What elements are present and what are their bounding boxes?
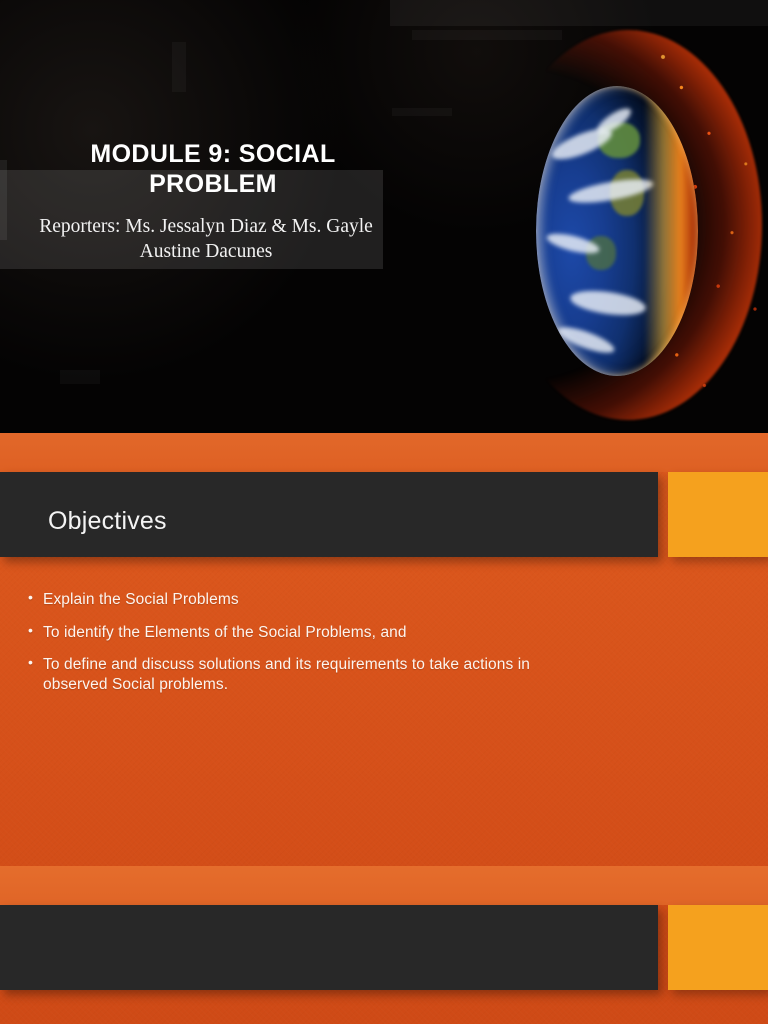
background-patch bbox=[172, 42, 186, 92]
objectives-list: Explain the Social Problems To identify … bbox=[28, 590, 588, 707]
burning-earth-image bbox=[508, 24, 768, 428]
slide-footer-bar bbox=[0, 905, 658, 990]
list-item: Explain the Social Problems bbox=[28, 590, 588, 610]
presenter-subtitle: Reporters: Ms. Jessalyn Diaz & Ms. Gayle… bbox=[20, 215, 392, 265]
title-slide: MODULE 9: SOCIAL PROBLEM Reporters: Ms. … bbox=[0, 0, 768, 433]
background-patch bbox=[60, 370, 100, 384]
objectives-slide: Objectives Explain the Social Problems T… bbox=[0, 433, 768, 1024]
atmosphere-rim bbox=[536, 86, 698, 376]
accent-square-top bbox=[668, 472, 768, 557]
page-title: MODULE 9: SOCIAL PROBLEM bbox=[34, 140, 392, 199]
accent-square-bottom bbox=[668, 905, 768, 990]
list-item: To identify the Elements of the Social P… bbox=[28, 623, 588, 643]
list-item: To define and discuss solutions and its … bbox=[28, 655, 588, 694]
earth-globe bbox=[536, 86, 698, 376]
background-patch bbox=[390, 0, 768, 26]
slide-heading: Objectives bbox=[48, 507, 167, 536]
top-orange-band bbox=[0, 433, 768, 472]
presentation-slide-deck: MODULE 9: SOCIAL PROBLEM Reporters: Ms. … bbox=[0, 0, 768, 1024]
lower-orange-band bbox=[0, 866, 768, 905]
background-patch bbox=[392, 108, 452, 116]
